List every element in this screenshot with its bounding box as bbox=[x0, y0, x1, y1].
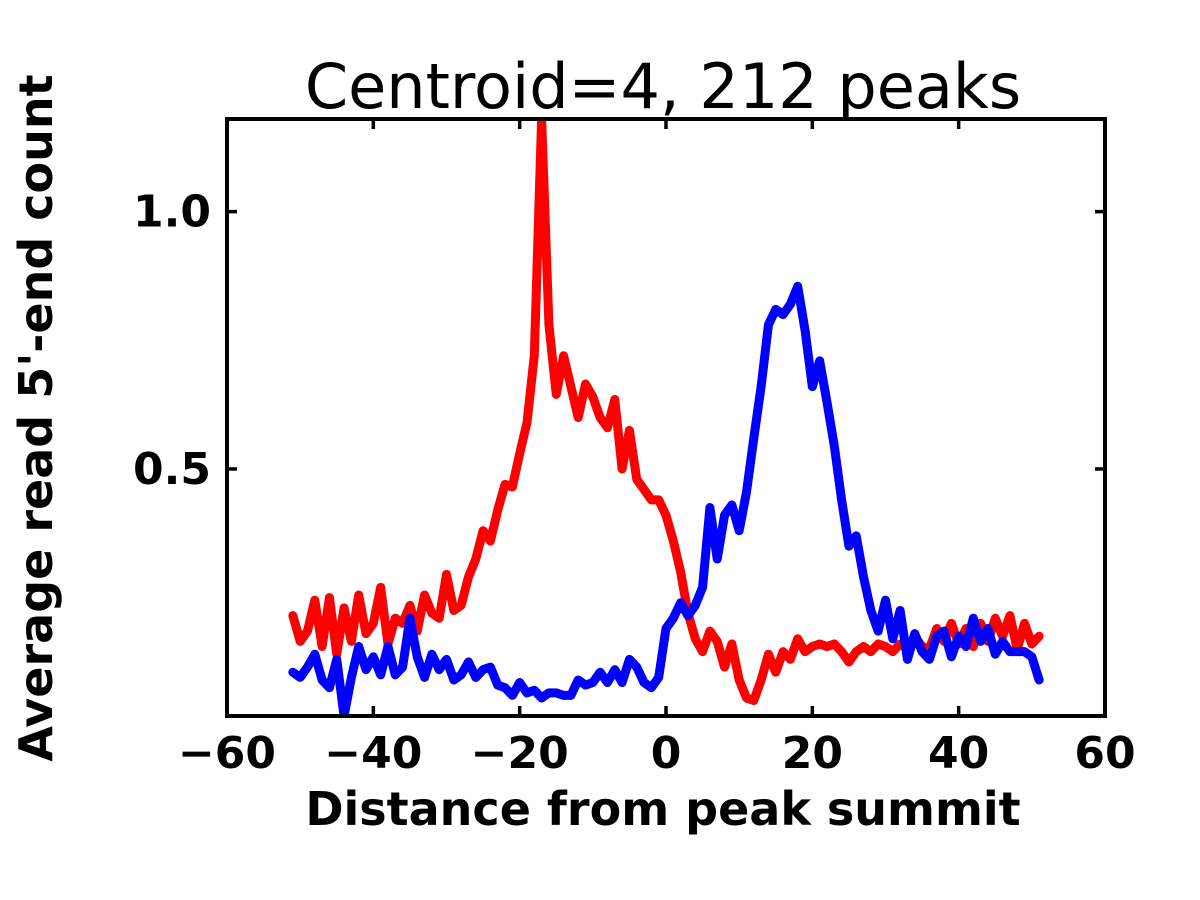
chart-title: Centroid=4, 212 peaks bbox=[305, 50, 1021, 123]
x-tick-label: −40 bbox=[324, 728, 422, 779]
series-line-forward-strand-red bbox=[293, 119, 1039, 701]
y-tick-label: 0.5 bbox=[133, 444, 211, 495]
x-tick-label: −60 bbox=[178, 728, 276, 779]
x-axis-label: Distance from peak summit bbox=[305, 782, 1020, 836]
x-tick-label: −20 bbox=[471, 728, 569, 779]
x-tick-label: 20 bbox=[782, 728, 843, 779]
series-line-reverse-strand-blue bbox=[293, 286, 1039, 716]
x-tick-label: 0 bbox=[651, 728, 682, 779]
chart-canvas: Centroid=4, 212 peaks Average read 5'-en… bbox=[0, 0, 1200, 900]
x-tick-label: 40 bbox=[928, 728, 989, 779]
y-tick-label: 1.0 bbox=[133, 187, 211, 238]
figure-container: Centroid=4, 212 peaks Average read 5'-en… bbox=[0, 0, 1200, 900]
y-axis-label: Average read 5'-end count bbox=[9, 74, 63, 761]
x-tick-label: 60 bbox=[1074, 728, 1135, 779]
data-series-group bbox=[293, 119, 1039, 716]
